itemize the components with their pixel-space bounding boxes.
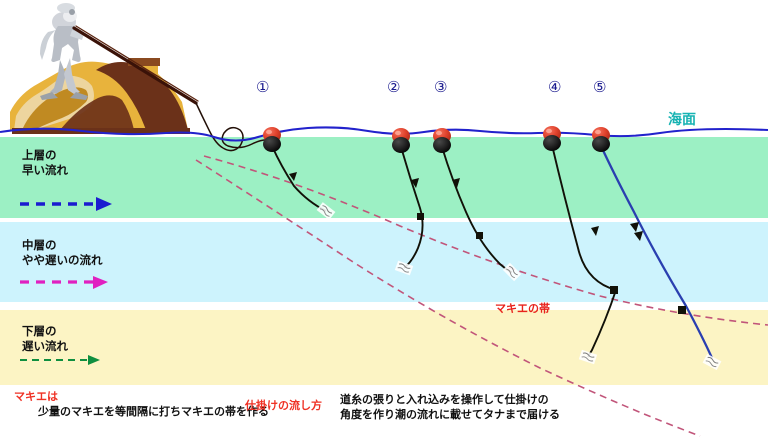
rig-5-float — [592, 127, 610, 152]
layer-label-lower-line1: 下層の — [22, 324, 57, 338]
rock-outcrop — [10, 58, 190, 134]
caption-makie-heading: マキエは — [14, 390, 58, 404]
layer-label-middle-line1: 中層の — [22, 238, 57, 252]
layer-label-lower-line2: 遅い流れ — [22, 339, 68, 353]
layer-band-lower — [0, 310, 768, 385]
rig-marker-4: ④ — [548, 80, 561, 95]
layer-label-upper-line1: 上層の — [22, 148, 57, 162]
caption-shikake-body-line2: 角度を作り潮の流れに載せてタナまで届ける — [340, 408, 560, 422]
rig-5-stopper — [678, 306, 686, 314]
caption-makie-body: 少量のマキエを等間隔に打ちマキエの帯を作る — [38, 405, 269, 419]
rig-marker-2: ② — [387, 80, 400, 95]
rig-marker-1: ① — [256, 80, 269, 95]
caption-shikake-heading: 仕掛けの流し方 — [245, 399, 322, 413]
rig-3-stopper — [476, 232, 483, 239]
rig-4-stopper — [610, 286, 618, 294]
caption-shikake-body-line1: 道糸の張りと入れ込みを操作して仕掛けの — [340, 393, 549, 407]
scene-svg — [0, 0, 768, 439]
rig-3-float — [433, 128, 451, 153]
rig-2-stopper — [417, 213, 424, 220]
rig-marker-5: ⑤ — [593, 80, 606, 95]
rig-1-float — [263, 127, 281, 152]
rig-4-float — [543, 126, 561, 151]
rig-2-float — [392, 128, 410, 153]
rig-marker-3: ③ — [434, 80, 447, 95]
layer-label-middle-line2: やや遅いの流れ — [22, 253, 103, 267]
layer-label-upper-line2: 早い流れ — [22, 163, 68, 177]
layer-band-upper — [0, 137, 768, 218]
sea-surface-label: 海面 — [668, 113, 696, 128]
diagram-canvas: 海面 上層の 早い流れ 中層の やや遅いの流れ 下層の 遅い流れ ① ② ③ ④… — [0, 0, 768, 439]
chum-band-label: マキエの帯 — [495, 303, 550, 315]
layer-band-middle — [0, 222, 768, 302]
